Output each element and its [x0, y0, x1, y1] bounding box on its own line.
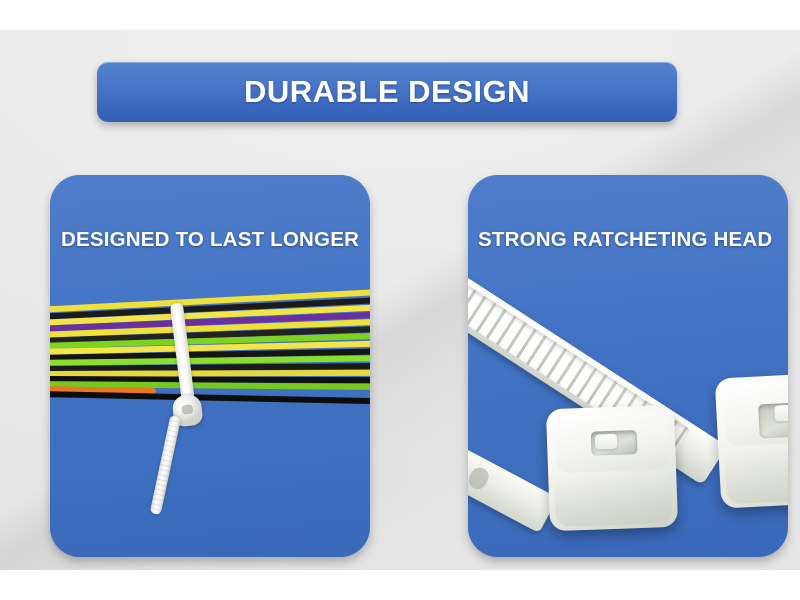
cable-tie-head-front — [546, 405, 678, 531]
cable-tie — [176, 303, 199, 423]
poster-canvas: DURABLE DESIGN — [0, 0, 800, 600]
feature-card-designed-to-last-longer: DESIGNED TO LAST LONGER — [50, 175, 370, 557]
card-label-strong-ratcheting-head: STRONG RATCHETING HEAD — [468, 228, 788, 252]
head-pawl — [774, 405, 788, 422]
head-side-face — [554, 471, 672, 527]
feature-card-strong-ratcheting-head: STRONG RATCHETING HEAD — [468, 175, 788, 557]
head-side-face — [724, 442, 788, 505]
cable-tie-secondary-strap — [468, 427, 558, 533]
page-title: DURABLE DESIGN — [244, 74, 530, 110]
cable-tie-tail-teeth — [150, 415, 182, 515]
head-pawl — [595, 434, 618, 450]
wire-black — [50, 391, 370, 404]
cable-tie-tail — [150, 415, 182, 515]
card-label-designed-to-last-longer: DESIGNED TO LAST LONGER — [50, 228, 370, 252]
cable-tie-head-aperture — [181, 404, 193, 414]
wire-bundle — [50, 307, 370, 405]
cable-tie-secondary-aperture — [468, 464, 492, 492]
title-banner: DURABLE DESIGN — [97, 62, 677, 122]
cable-tie-head-rear — [715, 371, 788, 508]
